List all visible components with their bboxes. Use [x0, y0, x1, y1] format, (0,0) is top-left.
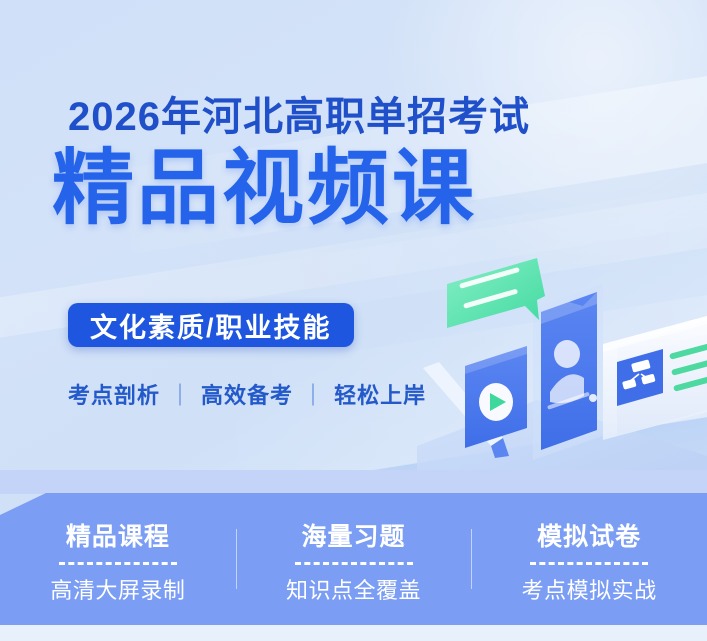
- feature-column-courses: 精品课程 高清大屏录制: [0, 513, 236, 605]
- feature-divider: [295, 562, 413, 565]
- feature-column-exercises: 海量习题 知识点全覆盖: [236, 513, 472, 605]
- tagline-item: 考点剖析: [68, 378, 160, 410]
- feature-title: 精品课程: [66, 517, 170, 553]
- tagline-item: 轻松上岸: [334, 378, 426, 410]
- feature-subtitle: 知识点全覆盖: [286, 573, 421, 605]
- org-chart-card: [603, 316, 707, 440]
- headline-block: 2026年河北高职单招考试 精品视频课: [0, 96, 707, 233]
- headline-year-line: 2026年河北高职单招考试: [0, 96, 707, 138]
- tagline-separator: ｜: [293, 378, 334, 410]
- tagline-item: 高效备考: [201, 378, 293, 410]
- subject-badge: 文化素质/职业技能: [68, 303, 354, 347]
- tagline-separator: ｜: [160, 378, 201, 410]
- speech-bubble-icon: [447, 258, 545, 328]
- feature-bar-top-band: [0, 470, 707, 494]
- tagline: 考点剖析 ｜ 高效备考 ｜ 轻松上岸: [68, 378, 426, 410]
- feature-column-mock-exams: 模拟试卷 考点模拟实战: [471, 513, 707, 605]
- feature-title: 模拟试卷: [537, 517, 641, 553]
- feature-title: 海量习题: [302, 517, 406, 553]
- feature-divider: [530, 562, 648, 565]
- feature-divider: [59, 562, 177, 565]
- profile-card: [533, 284, 603, 460]
- course-illustration: [417, 250, 707, 490]
- subject-badge-label: 文化素质/职业技能: [90, 306, 332, 345]
- feature-bar: 精品课程 高清大屏录制 海量习题 知识点全覆盖 模拟试卷 考点模拟实战: [0, 493, 707, 625]
- headline-main-line: 精品视频课: [0, 138, 707, 233]
- promo-banner: 2026年河北高职单招考试 精品视频课 文化素质/职业技能 考点剖析 ｜ 高效备…: [0, 0, 707, 641]
- bottom-strip: [0, 625, 707, 641]
- feature-subtitle: 考点模拟实战: [522, 573, 657, 605]
- feature-subtitle: 高清大屏录制: [50, 573, 185, 605]
